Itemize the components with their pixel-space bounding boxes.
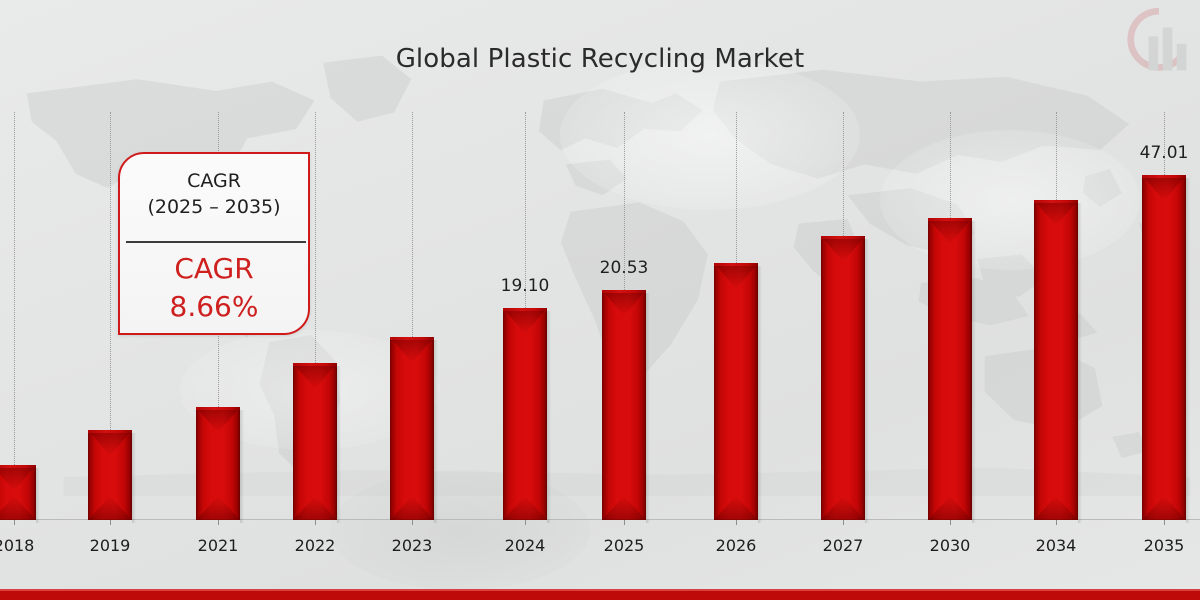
bar-2018[interactable] (0, 465, 36, 520)
bar-face (928, 218, 972, 520)
bar-top-edge (503, 308, 547, 311)
x-axis-label-2021: 2021 (173, 536, 263, 555)
bar-top-edge (0, 465, 36, 468)
bar-shadow (1186, 178, 1190, 523)
bar-2035[interactable] (1142, 175, 1186, 520)
cagr-callout-divider (126, 241, 306, 243)
bar-face (390, 337, 434, 520)
bar-top-edge (1034, 200, 1078, 203)
bar-face (714, 263, 758, 520)
bar-2026[interactable] (714, 263, 758, 520)
x-axis-label-2024: 2024 (480, 536, 570, 555)
bar-top-edge (196, 407, 240, 410)
axis-tick (950, 520, 951, 525)
gridline (14, 112, 15, 479)
bar-2023[interactable] (390, 337, 434, 520)
bar-top-edge (1142, 175, 1186, 178)
bar-value-label-2024: 19.10 (475, 276, 575, 296)
axis-tick (736, 520, 737, 525)
bar-top-edge (88, 430, 132, 433)
x-axis-label-2022: 2022 (270, 536, 360, 555)
bar-2022[interactable] (293, 363, 337, 520)
axis-tick (525, 520, 526, 525)
cagr-header-range: (2025 – 2035) (120, 194, 308, 220)
bar-shadow (434, 340, 438, 523)
cagr-callout-header: CAGR (2025 – 2035) (120, 168, 308, 220)
bar-shadow (865, 239, 869, 523)
bar-top-edge (602, 290, 646, 293)
axis-tick (14, 520, 15, 525)
bar-2024[interactable] (503, 308, 547, 520)
gridline (110, 112, 111, 444)
cagr-callout-body: CAGR 8.66% (120, 250, 308, 326)
bar-shadow (972, 221, 976, 523)
bar-2019[interactable] (88, 430, 132, 520)
bar-shadow (132, 433, 136, 523)
gridline (315, 112, 316, 377)
bar-shadow (36, 468, 40, 523)
bar-shadow (547, 311, 551, 523)
bar-top-edge (821, 236, 865, 239)
cagr-body-label: CAGR (120, 250, 308, 288)
bar-shadow (337, 366, 341, 523)
axis-tick (624, 520, 625, 525)
gridline (736, 112, 737, 277)
bar-2027[interactable] (821, 236, 865, 520)
bar-top-edge (293, 363, 337, 366)
x-axis-label-2025: 2025 (579, 536, 669, 555)
footer-band (0, 589, 1200, 600)
axis-baseline (0, 519, 1200, 520)
gridline (1056, 112, 1057, 214)
bar-top-edge (390, 337, 434, 340)
gridline (950, 112, 951, 232)
cagr-body-value: 8.66% (120, 288, 308, 326)
axis-tick (843, 520, 844, 525)
x-axis-label-2026: 2026 (691, 536, 781, 555)
bar-shadow (1078, 203, 1082, 523)
x-axis-label-2018: 2018 (0, 536, 59, 555)
bar-top-edge (928, 218, 972, 221)
x-axis-label-2023: 2023 (367, 536, 457, 555)
x-axis-label-2027: 2027 (798, 536, 888, 555)
bar-face (602, 290, 646, 520)
bar-shadow (240, 410, 244, 523)
axis-tick (1056, 520, 1057, 525)
bar-face (1142, 175, 1186, 520)
x-axis-label-2030: 2030 (905, 536, 995, 555)
bar-face (503, 308, 547, 520)
bar-2030[interactable] (928, 218, 972, 520)
bar-face (821, 236, 865, 520)
bar-value-label-2025: 20.53 (574, 258, 674, 278)
chart-container: Global Plastic Recycling Market 20182019… (0, 0, 1200, 600)
bar-2025[interactable] (602, 290, 646, 520)
axis-tick (315, 520, 316, 525)
bar-top-edge (714, 263, 758, 266)
x-axis-label-2019: 2019 (65, 536, 155, 555)
bar-shadow (646, 293, 650, 523)
bar-2034[interactable] (1034, 200, 1078, 520)
x-axis-label-2035: 2035 (1119, 536, 1200, 555)
bar-value-label-2035: 47.01 (1114, 143, 1200, 163)
cagr-header-label: CAGR (120, 168, 308, 194)
axis-tick (1164, 520, 1165, 525)
x-axis-label-2034: 2034 (1011, 536, 1101, 555)
bar-shadow (758, 266, 762, 523)
bar-2021[interactable] (196, 407, 240, 520)
gridline (843, 112, 844, 250)
axis-tick (412, 520, 413, 525)
axis-tick (218, 520, 219, 525)
axis-tick (110, 520, 111, 525)
bar-face (1034, 200, 1078, 520)
cagr-callout: CAGR (2025 – 2035) CAGR 8.66% (118, 152, 310, 335)
gridline (412, 112, 413, 351)
